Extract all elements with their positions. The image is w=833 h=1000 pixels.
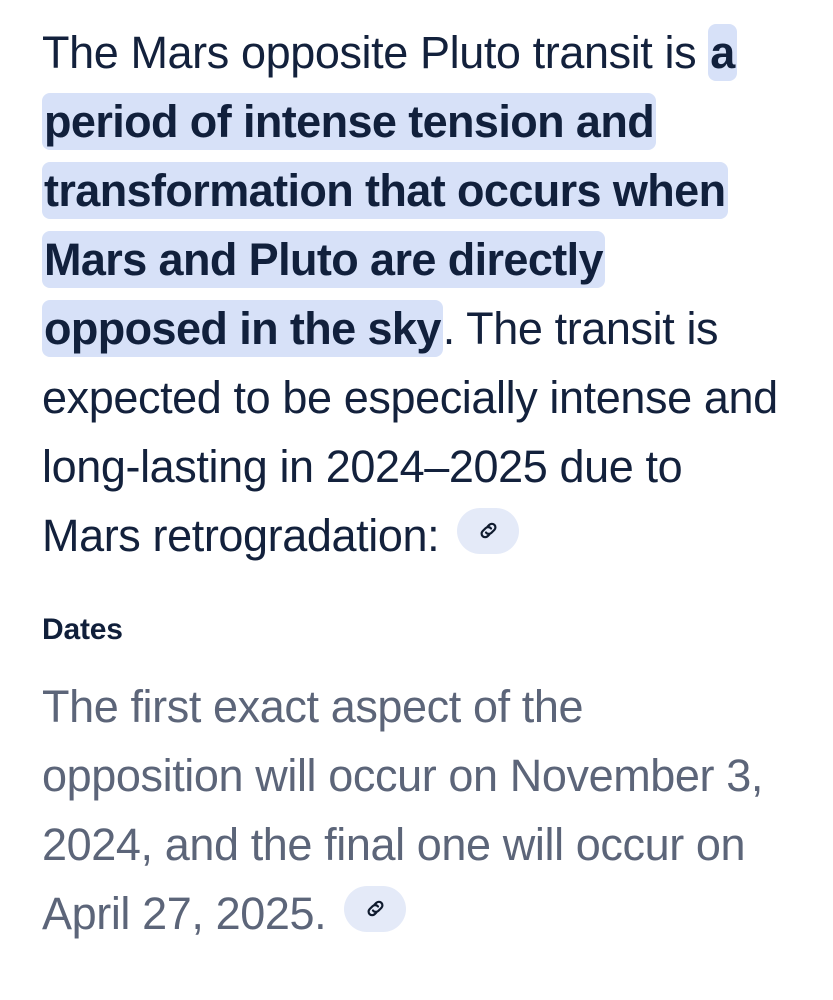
dates-paragraph: The first exact aspect of the opposition… — [42, 672, 791, 948]
answer-panel: The Mars opposite Pluto transit is a per… — [0, 0, 833, 1000]
link-icon — [476, 518, 501, 543]
intro-paragraph: The Mars opposite Pluto transit is a per… — [42, 18, 791, 570]
citation-link-chip-1[interactable] — [457, 508, 519, 554]
link-icon — [363, 896, 388, 921]
intro-lead-text: The Mars opposite Pluto transit is — [42, 27, 708, 78]
section-heading-dates: Dates — [42, 610, 791, 650]
citation-link-chip-2[interactable] — [344, 886, 406, 932]
